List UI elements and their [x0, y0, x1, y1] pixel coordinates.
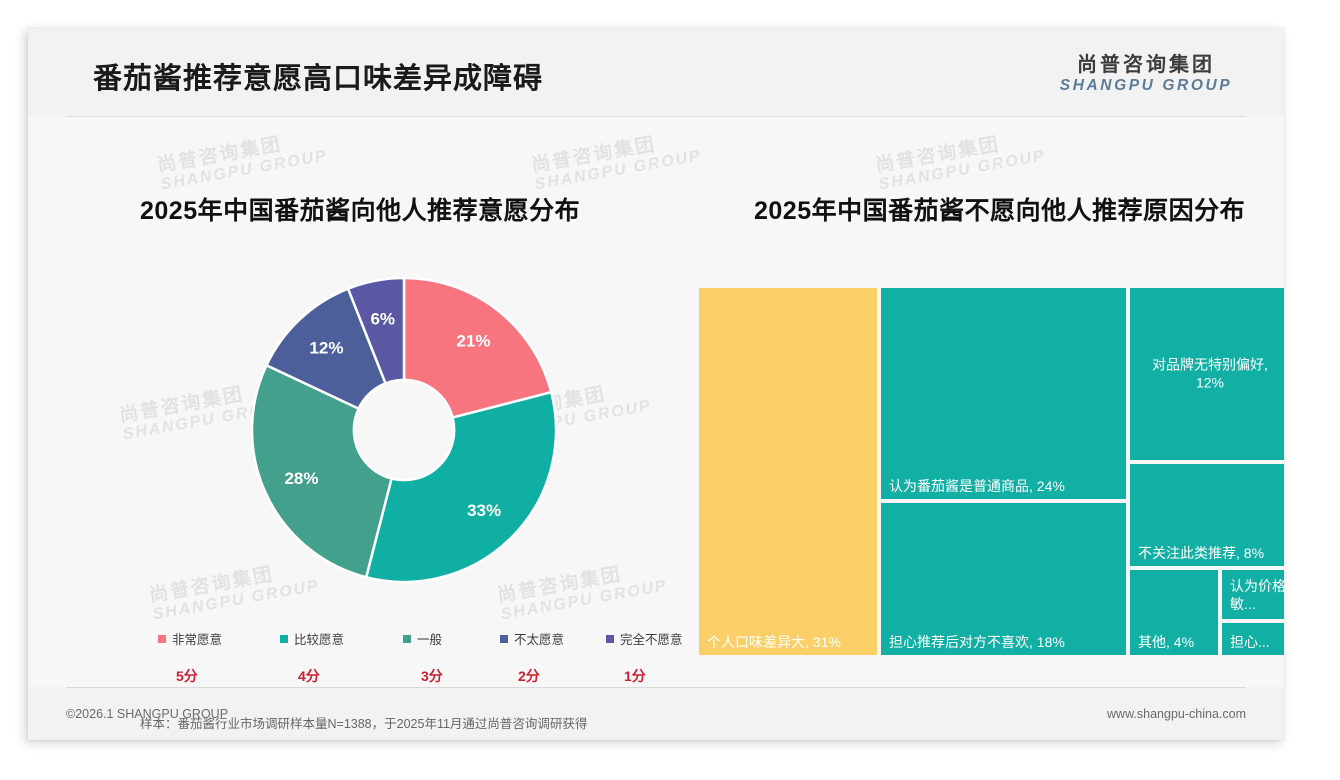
treemap-cell-label: 担心推荐后对方不喜欢, 18% — [889, 634, 1122, 652]
treemap-cell-label: 个人口味差异大, 31% — [707, 634, 873, 652]
legend-item-label: 完全不愿意 — [620, 629, 683, 648]
legend-swatch-icon — [500, 635, 508, 643]
watermark: 尚普咨询集团 SHANGPU GROUP — [874, 128, 1047, 194]
donut-chart-svg: 21%33%28%12%6% — [250, 276, 558, 584]
treemap-cell[interactable]: 担心推荐后对方不喜欢, 18% — [879, 501, 1128, 657]
logo-english-text: SHANGPU GROUP — [1046, 77, 1246, 96]
slide-header: 番茄酱推荐意愿高口味差异成障碍 尚普咨询集团 SHANGPU GROUP — [28, 28, 1284, 117]
brand-logo: 尚普咨询集团 SHANGPU GROUP — [1046, 54, 1246, 96]
donut-slice-label: 28% — [284, 469, 318, 488]
slide-canvas: 番茄酱推荐意愿高口味差异成障碍 尚普咨询集团 SHANGPU GROUP 尚普咨… — [28, 28, 1284, 740]
treemap-cell-label: 认为价格敏... — [1230, 578, 1284, 613]
donut-slice-label: 6% — [370, 310, 395, 329]
donut-legend: 非常愿意比较愿意一般不太愿意完全不愿意 — [158, 629, 658, 651]
treemap-cell[interactable]: 对品牌无特别偏好,12% — [1128, 286, 1284, 462]
watermark-cn: 尚普咨询集团 — [874, 128, 1044, 177]
legend-item[interactable]: 比较愿意 — [280, 629, 344, 648]
score-label: 1分 — [624, 666, 646, 686]
donut-slice-label: 33% — [467, 501, 501, 520]
treemap-cell-label: 认为番茄酱是普通商品, 24% — [889, 478, 1122, 496]
watermark-en: SHANGPU GROUP — [533, 147, 703, 194]
treemap-cell[interactable]: 认为番茄酱是普通商品, 24% — [879, 286, 1128, 501]
treemap-cell[interactable]: 其他, 4% — [1128, 568, 1220, 657]
legend-swatch-icon — [606, 635, 614, 643]
score-label: 5分 — [176, 666, 198, 686]
legend-swatch-icon — [280, 635, 288, 643]
legend-item[interactable]: 一般 — [403, 629, 442, 648]
watermark-en: SHANGPU GROUP — [159, 147, 329, 194]
score-label: 4分 — [298, 666, 320, 686]
legend-item[interactable]: 非常愿意 — [158, 629, 222, 648]
legend-item-label: 不太愿意 — [514, 629, 564, 648]
watermark-en: SHANGPU GROUP — [877, 147, 1047, 194]
donut-slice[interactable] — [366, 392, 556, 582]
legend-item-label: 非常愿意 — [172, 629, 222, 648]
left-chart-title: 2025年中国番茄酱向他人推荐意愿分布 — [140, 191, 580, 227]
logo-chinese-text: 尚普咨询集团 — [1046, 54, 1246, 77]
donut-slice[interactable] — [252, 365, 392, 577]
legend-item-label: 一般 — [417, 629, 442, 648]
watermark: 尚普咨询集团 SHANGPU GROUP — [156, 128, 329, 194]
donut-slice-label: 21% — [456, 331, 490, 350]
treemap-cell-label: 担心... — [1230, 634, 1284, 652]
page-title: 番茄酱推荐意愿高口味差异成障碍 — [93, 55, 543, 97]
watermark-cn: 尚普咨询集团 — [530, 128, 700, 177]
slide-body: 尚普咨询集团 SHANGPU GROUP 尚普咨询集团 SHANGPU GROU… — [28, 117, 1284, 687]
watermark-en: SHANGPU GROUP — [151, 577, 321, 624]
watermark-cn: 尚普咨询集团 — [156, 128, 326, 177]
treemap-cell-label: 不关注此类推荐, 8% — [1138, 545, 1284, 563]
treemap-cell-label: 其他, 4% — [1138, 634, 1214, 652]
legend-item-label: 比较愿意 — [294, 629, 344, 648]
legend-swatch-icon — [158, 635, 166, 643]
watermark-en: SHANGPU GROUP — [499, 577, 669, 624]
score-label: 3分 — [421, 666, 443, 686]
score-label: 2分 — [518, 666, 540, 686]
legend-item[interactable]: 完全不愿意 — [606, 629, 683, 648]
sample-footnote: 样本：番茄酱行业市场调研样本量N=1388，于2025年11月通过尚普咨询调研获… — [140, 713, 587, 732]
donut-slice-label: 12% — [309, 338, 343, 357]
legend-swatch-icon — [403, 635, 411, 643]
treemap-cell[interactable]: 担心... — [1220, 621, 1284, 657]
score-labels-row: 5分4分3分2分1分 — [158, 666, 658, 688]
treemap-cell[interactable]: 认为价格敏... — [1220, 568, 1284, 621]
right-chart-title: 2025年中国番茄酱不愿向他人推荐原因分布 — [754, 191, 1245, 227]
treemap-cell[interactable]: 不关注此类推荐, 8% — [1128, 462, 1284, 568]
treemap-cell-label: 对品牌无特别偏好,12% — [1134, 357, 1284, 392]
footer-website: www.shangpu-china.com — [1107, 707, 1246, 721]
treemap-chart: 个人口味差异大, 31%认为番茄酱是普通商品, 24%担心推荐后对方不喜欢, 1… — [697, 286, 1284, 657]
donut-chart: 21%33%28%12%6% — [250, 276, 558, 584]
watermark: 尚普咨询集团 SHANGPU GROUP — [530, 128, 703, 194]
legend-item[interactable]: 不太愿意 — [500, 629, 564, 648]
treemap-cell[interactable]: 个人口味差异大, 31% — [697, 286, 879, 657]
